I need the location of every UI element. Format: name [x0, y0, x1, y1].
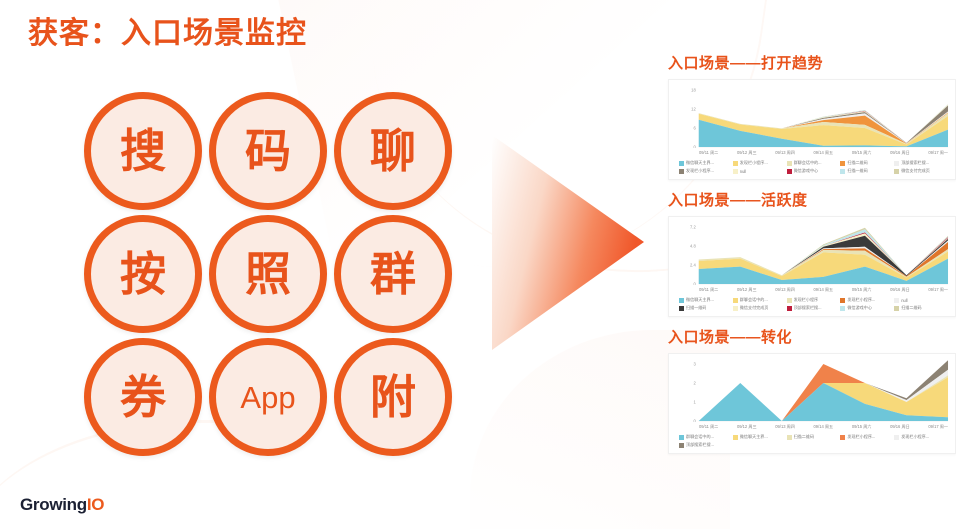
- x-axis-tick-label: 09/15 周六: [852, 424, 872, 430]
- legend-label: 扫描一维码: [686, 305, 706, 311]
- legend-item[interactable]: 微信聊天主界...: [679, 297, 733, 303]
- chart-card[interactable]: 02.44.87.209/11 周二09/12 周三09/13 周四09/14 …: [668, 216, 956, 317]
- legend-swatch-icon: [679, 298, 684, 303]
- y-axis-tick-label: 0: [693, 282, 696, 285]
- legend-item[interactable]: 群聊会话中的...: [787, 160, 841, 166]
- x-axis-labels: 09/11 周二09/12 周三09/13 周四09/14 周五09/15 周六…: [673, 422, 950, 430]
- scene-circle-grid: 搜码聊按照群券App附: [84, 92, 456, 460]
- chart-block-1: 入口场景——打开趋势06121809/11 周二09/12 周三09/13 周四…: [668, 52, 956, 180]
- x-axis-tick-label: 09/16 周日: [890, 287, 910, 293]
- legend-label: 微信支付完成页: [740, 305, 769, 311]
- legend-swatch-icon: [840, 306, 845, 311]
- chart-plot-area[interactable]: 02.44.87.2: [673, 223, 950, 285]
- x-axis-tick-label: 09/12 周三: [737, 287, 757, 293]
- chart-legend: 群聊会话中的...微信聊天主界...扫描二维码发现栏小程序...发现栏小程序..…: [673, 430, 950, 449]
- legend-swatch-icon: [894, 161, 899, 166]
- legend-swatch-icon: [787, 435, 792, 440]
- legend-swatch-icon: [733, 435, 738, 440]
- legend-item[interactable]: null: [733, 168, 787, 174]
- x-axis-tick-label: 09/14 周五: [814, 150, 834, 156]
- legend-swatch-icon: [894, 298, 899, 303]
- legend-item[interactable]: 群聊会话中的...: [733, 297, 787, 303]
- legend-label: 群聊会话中的...: [686, 434, 714, 440]
- page-title: 获客：入口场景监控: [28, 8, 307, 52]
- y-axis-tick-label: 18: [691, 88, 696, 93]
- y-axis-tick-label: 2.4: [690, 263, 696, 268]
- flow-arrow: [492, 135, 644, 350]
- y-axis-tick-label: 0: [693, 419, 696, 422]
- legend-item[interactable]: 发现栏小程序...: [840, 434, 894, 440]
- legend-label: 微信聊天主界...: [686, 297, 714, 303]
- legend-item[interactable]: 发现栏小程序...: [679, 168, 733, 174]
- legend-label: 微信游戏中心: [847, 305, 872, 311]
- legend-swatch-icon: [840, 169, 845, 174]
- scene-circle-label: 搜: [120, 128, 166, 174]
- legend-item[interactable]: 扫描二维码: [894, 305, 948, 311]
- legend-label: 扫描二维码: [847, 160, 867, 166]
- y-axis-tick-label: 3: [693, 362, 696, 367]
- legend-swatch-icon: [679, 435, 684, 440]
- legend-label: 发现栏小程序...: [847, 434, 875, 440]
- scene-circle-group[interactable]: 群: [334, 215, 452, 333]
- scene-circle-photo[interactable]: 照: [209, 215, 327, 333]
- chart-title: 入口场景——活跃度: [668, 189, 956, 210]
- legend-item[interactable]: 发现栏小程序...: [733, 160, 787, 166]
- chart-plot-area[interactable]: 0123: [673, 360, 950, 422]
- y-axis-tick-label: 1: [693, 400, 696, 405]
- brand-logo-io: IO: [87, 495, 104, 514]
- legend-swatch-icon: [733, 161, 738, 166]
- chart-card[interactable]: 012309/11 周二09/12 周三09/13 周四09/14 周五09/1…: [668, 353, 956, 454]
- legend-label: 扫描二维码: [794, 434, 814, 440]
- scene-circle-label: 按: [120, 251, 166, 297]
- scene-circle-app[interactable]: App: [209, 338, 327, 456]
- x-axis-tick-label: 09/13 周四: [775, 287, 795, 293]
- x-axis-tick-label: 09/13 周四: [775, 424, 795, 430]
- legend-swatch-icon: [840, 161, 845, 166]
- y-axis-tick-label: 12: [691, 107, 696, 112]
- x-axis-tick-label: 09/11 周二: [699, 287, 718, 293]
- scene-circle-coupon[interactable]: 券: [84, 338, 202, 456]
- legend-label: 微信聊天主界...: [740, 434, 768, 440]
- brand-logo-growing: Growing: [20, 495, 87, 514]
- legend-swatch-icon: [679, 443, 684, 448]
- legend-item[interactable]: 群聊会话中的...: [679, 434, 733, 440]
- scene-circle-label: 聊: [370, 128, 416, 174]
- legend-swatch-icon: [787, 161, 792, 166]
- legend-swatch-icon: [894, 435, 899, 440]
- legend-label: 顶部搜索栏搜...: [686, 442, 714, 448]
- legend-label: 顶部搜索栏搜...: [901, 160, 929, 166]
- legend-label: null: [901, 298, 907, 303]
- chart-block-3: 入口场景——转化012309/11 周二09/12 周三09/13 周四09/1…: [668, 326, 956, 454]
- x-axis-tick-label: 09/12 周三: [737, 424, 757, 430]
- x-axis-tick-label: 09/16 周日: [890, 424, 910, 430]
- x-axis-tick-label: 09/15 周六: [852, 287, 872, 293]
- chart-plot-area[interactable]: 061218: [673, 86, 950, 148]
- legend-item[interactable]: 扫描二维码: [787, 434, 841, 440]
- legend-item[interactable]: 微信聊天主界...: [733, 434, 787, 440]
- scene-circle-label: App: [240, 382, 295, 413]
- chart-title: 入口场景——打开趋势: [668, 52, 956, 73]
- legend-label: 微信支付完成页: [901, 168, 930, 174]
- scene-circle-chat[interactable]: 聊: [334, 92, 452, 210]
- scene-circle-search[interactable]: 搜: [84, 92, 202, 210]
- charts-column: 入口场景——打开趋势06121809/11 周二09/12 周三09/13 周四…: [668, 52, 956, 463]
- legend-swatch-icon: [679, 169, 684, 174]
- x-axis-tick-label: 09/11 周二: [699, 424, 718, 430]
- legend-item[interactable]: 微信聊天主界...: [679, 160, 733, 166]
- y-axis-tick-label: 6: [693, 126, 696, 131]
- legend-label: 顶部搜索栏搜...: [794, 305, 822, 311]
- scene-circle-nearby[interactable]: 附: [334, 338, 452, 456]
- scene-circle-label: 码: [245, 128, 291, 174]
- legend-label: 群聊会话中的...: [740, 297, 768, 303]
- legend-item[interactable]: 微信支付完成页: [733, 305, 787, 311]
- legend-swatch-icon: [733, 298, 738, 303]
- x-axis-tick-label: 09/13 周四: [775, 150, 795, 156]
- legend-item[interactable]: 微信游戏中心: [840, 305, 894, 311]
- x-axis-tick-label: 09/11 周二: [699, 150, 718, 156]
- legend-item[interactable]: 顶部搜索栏搜...: [787, 305, 841, 311]
- legend-item[interactable]: 顶部搜索栏搜...: [894, 160, 948, 166]
- scene-circle-press[interactable]: 按: [84, 215, 202, 333]
- legend-swatch-icon: [733, 306, 738, 311]
- chart-legend: 微信聊天主界...发现栏小程序...群聊会话中的...扫描二维码顶部搜索栏搜..…: [673, 156, 950, 175]
- legend-item[interactable]: 微信支付完成页: [894, 168, 948, 174]
- y-axis-tick-label: 4.8: [690, 244, 696, 249]
- scene-circle-label: 券: [120, 374, 166, 420]
- legend-swatch-icon: [787, 169, 792, 174]
- legend-item[interactable]: 顶部搜索栏搜...: [679, 442, 733, 448]
- legend-swatch-icon: [894, 306, 899, 311]
- legend-item[interactable]: 扫描一维码: [679, 305, 733, 311]
- legend-item[interactable]: null: [894, 297, 948, 303]
- legend-label: 发现栏小程序...: [901, 434, 929, 440]
- legend-swatch-icon: [787, 298, 792, 303]
- legend-item[interactable]: 发现栏小程序: [787, 297, 841, 303]
- scene-circle-label: 群: [370, 251, 416, 297]
- legend-swatch-icon: [679, 306, 684, 311]
- legend-item[interactable]: 发现栏小程序...: [840, 297, 894, 303]
- brand-logo: GrowingIO: [20, 495, 104, 515]
- legend-label: 发现栏小程序: [794, 297, 819, 303]
- x-axis-tick-label: 09/17 周一: [928, 150, 948, 156]
- legend-swatch-icon: [733, 169, 738, 174]
- scene-circle-label: 照: [245, 251, 291, 297]
- legend-swatch-icon: [679, 161, 684, 166]
- x-axis-labels: 09/11 周二09/12 周三09/13 周四09/14 周五09/15 周六…: [673, 148, 950, 156]
- slide-canvas: 获客：入口场景监控 搜码聊按照群券App附 入口场景——打开趋势06121809…: [0, 0, 956, 529]
- x-axis-tick-label: 09/16 周日: [890, 150, 910, 156]
- legend-label: 发现栏小程序...: [740, 160, 768, 166]
- legend-label: 微信聊天主界...: [686, 160, 714, 166]
- x-axis-tick-label: 09/15 周六: [852, 150, 872, 156]
- legend-label: 发现栏小程序...: [686, 168, 714, 174]
- x-axis-tick-label: 09/14 周五: [814, 424, 834, 430]
- legend-label: 扫描二维码: [901, 305, 921, 311]
- x-axis-tick-label: 09/17 周一: [928, 424, 948, 430]
- legend-label: 微信游戏中心: [794, 168, 819, 174]
- chart-title: 入口场景——转化: [668, 326, 956, 347]
- legend-item[interactable]: 微信游戏中心: [787, 168, 841, 174]
- legend-swatch-icon: [787, 306, 792, 311]
- y-axis-tick-label: 2: [693, 381, 696, 386]
- chart-block-2: 入口场景——活跃度02.44.87.209/11 周二09/12 周三09/13…: [668, 189, 956, 317]
- chart-legend: 微信聊天主界...群聊会话中的...发现栏小程序发现栏小程序...null扫描一…: [673, 293, 950, 312]
- legend-label: 群聊会话中的...: [794, 160, 822, 166]
- y-axis-tick-label: 7.2: [690, 225, 696, 230]
- x-axis-labels: 09/11 周二09/12 周三09/13 周四09/14 周五09/15 周六…: [673, 285, 950, 293]
- x-axis-tick-label: 09/14 周五: [814, 287, 834, 293]
- legend-item[interactable]: 扫描二维码: [840, 160, 894, 166]
- y-axis-tick-label: 0: [693, 145, 696, 148]
- scene-circle-label: 附: [370, 374, 416, 420]
- x-axis-tick-label: 09/17 周一: [928, 287, 948, 293]
- legend-swatch-icon: [840, 298, 845, 303]
- legend-label: 发现栏小程序...: [847, 297, 875, 303]
- legend-label: null: [740, 169, 746, 174]
- legend-label: 扫描一维码: [847, 168, 867, 174]
- x-axis-tick-label: 09/12 周三: [737, 150, 757, 156]
- chart-card[interactable]: 06121809/11 周二09/12 周三09/13 周四09/14 周五09…: [668, 79, 956, 180]
- scene-circle-qrcode[interactable]: 码: [209, 92, 327, 210]
- legend-swatch-icon: [840, 435, 845, 440]
- legend-item[interactable]: 扫描一维码: [840, 168, 894, 174]
- legend-swatch-icon: [894, 169, 899, 174]
- legend-item[interactable]: 发现栏小程序...: [894, 434, 948, 440]
